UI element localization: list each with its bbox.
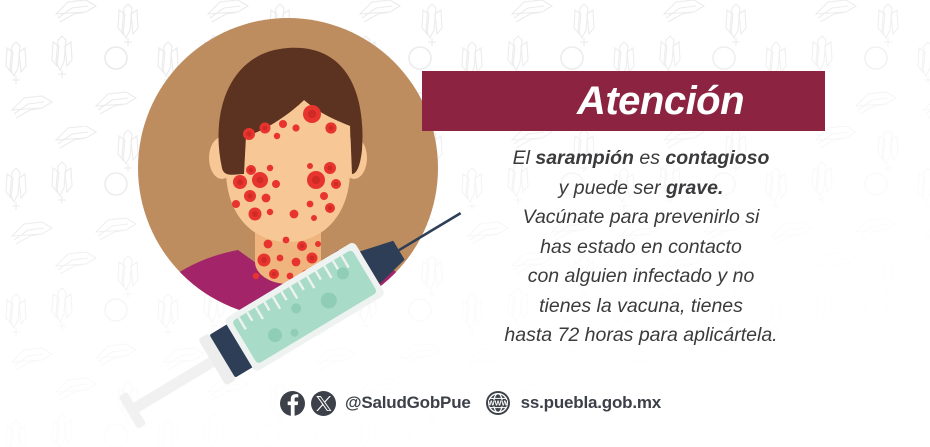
syringe-plunger-flange: [118, 392, 146, 430]
line1-part-a: El: [513, 147, 536, 169]
website-url[interactable]: ss.puebla.gob.mx: [521, 393, 661, 413]
keyword-grave: grave.: [666, 177, 723, 199]
syringe-plunger-rod: [130, 355, 218, 414]
www-globe-icon[interactable]: WWW: [485, 390, 511, 416]
social-handle[interactable]: @SaludGobPue: [345, 393, 471, 413]
body-line-4: has estado en contacto: [448, 233, 834, 263]
body-line-6: tienes la vacuna, tienes: [448, 292, 834, 322]
body-line-5: con alguien infectado y no: [448, 262, 834, 292]
body-copy: El sarampión es contagioso y puede ser g…: [448, 144, 834, 351]
body-line-7: hasta 72 horas para aplicártela.: [448, 321, 834, 351]
keyword-contagioso: contagioso: [665, 147, 769, 169]
line1-part-c: es: [634, 147, 665, 169]
facebook-icon[interactable]: [280, 391, 305, 416]
measles-patient-illustration: [118, 18, 458, 438]
www-label: WWW: [487, 398, 508, 407]
attention-banner: Atención: [422, 71, 825, 131]
line2-part-a: y puede ser: [559, 177, 666, 199]
body-line-2: y puede ser grave.: [448, 174, 834, 204]
x-twitter-icon[interactable]: [311, 391, 336, 416]
banner-title: Atención: [503, 81, 744, 121]
body-line-3: Vacúnate para prevenirlo si: [448, 203, 834, 233]
poster-canvas: Atención El sarampión es contagioso y pu…: [0, 0, 930, 447]
keyword-sarampion: sarampión: [535, 147, 634, 169]
body-line-1: El sarampión es contagioso: [448, 144, 834, 174]
footer-social-bar: @SaludGobPue WWW ss.puebla.gob.mx: [280, 386, 650, 420]
